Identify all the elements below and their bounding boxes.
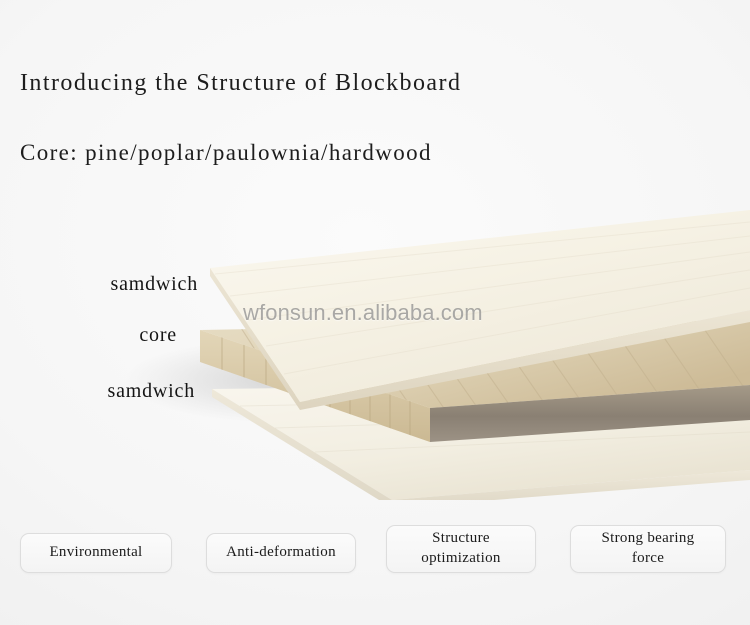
feature-chip-line: Strong bearing — [602, 529, 695, 549]
feature-chip-environmental[interactable]: Environmental — [20, 533, 172, 573]
feature-chip-row: Environmental Anti-deformation Structure… — [0, 517, 750, 579]
feature-chip-line: optimization — [421, 549, 500, 569]
layer-label-top-veneer: samdwich — [0, 273, 198, 296]
feature-chip-line: Environmental — [49, 543, 142, 563]
feature-chip-line: Anti-deformation — [226, 543, 336, 563]
layer-label-bottom-veneer: samdwich — [0, 380, 195, 403]
blockboard-poster: Introducing the Structure of Blockboard … — [0, 0, 750, 625]
feature-chip-line: force — [602, 549, 695, 569]
feature-chip-anti-deformation[interactable]: Anti-deformation — [206, 533, 356, 573]
feature-chip-structure-optimization[interactable]: Structure optimization — [386, 525, 536, 573]
layer-label-core: core — [0, 324, 177, 347]
page-title: Introducing the Structure of Blockboard — [20, 70, 461, 97]
page-subtitle-core-materials: Core: pine/poplar/paulownia/hardwood — [20, 140, 432, 166]
feature-chip-strong-bearing-force[interactable]: Strong bearing force — [570, 525, 726, 573]
feature-chip-line: Structure — [421, 529, 500, 549]
